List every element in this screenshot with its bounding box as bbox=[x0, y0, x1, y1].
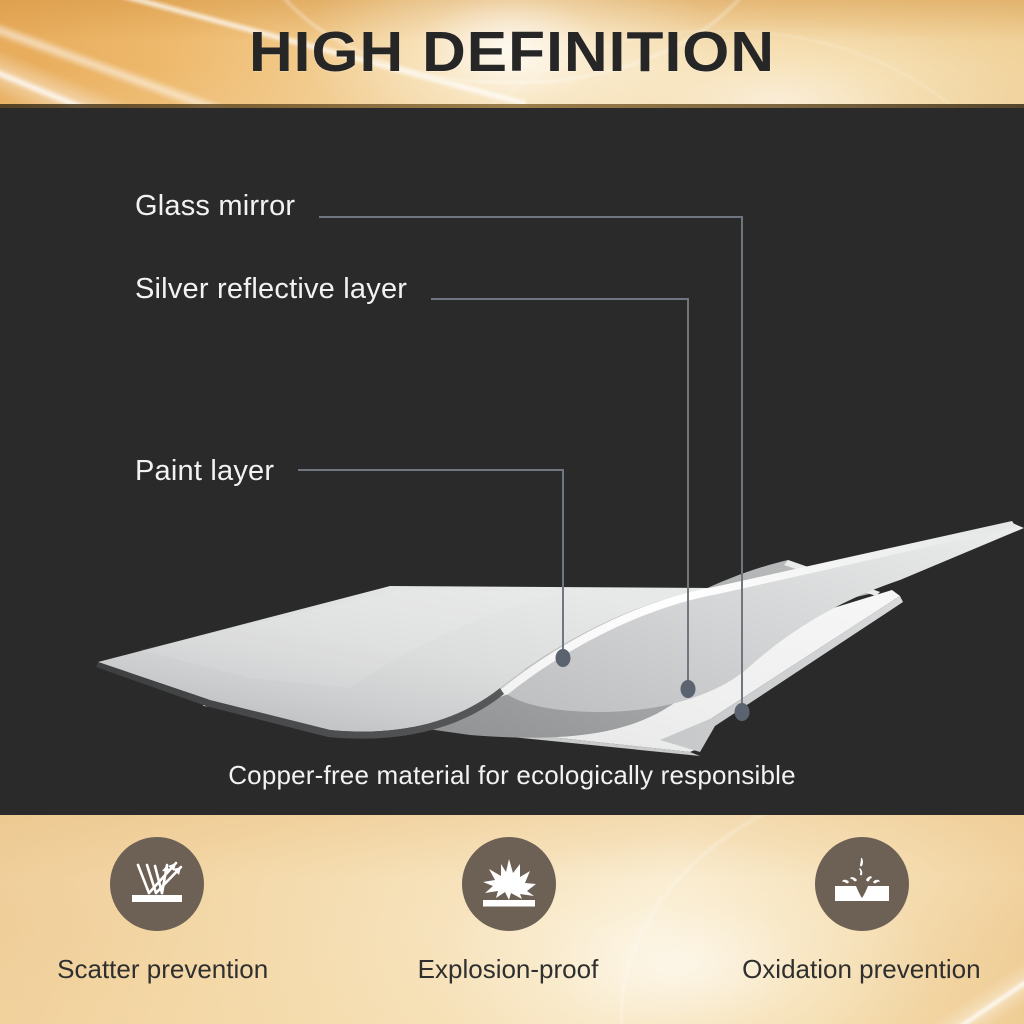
feature-icon-circle bbox=[462, 837, 556, 931]
feature-icon-circle bbox=[815, 837, 909, 931]
feature-scatter-prevention: Scatter prevention bbox=[0, 815, 341, 1024]
explosion-burst-icon bbox=[476, 855, 542, 913]
feature-label: Scatter prevention bbox=[0, 954, 333, 985]
infographic-canvas: HIGH DEFINITION bbox=[0, 0, 1024, 1024]
feature-oxidation-prevention: Oxidation prevention bbox=[683, 815, 1024, 1024]
page-title: HIGH DEFINITION bbox=[0, 0, 1024, 104]
layer-label-glass-mirror: Glass mirror bbox=[135, 190, 295, 223]
oxidation-impact-icon bbox=[829, 855, 895, 913]
layer-label-silver-reflective-layer: Silver reflective layer bbox=[135, 273, 407, 306]
feature-list: Scatter prevention Explosion-proof bbox=[0, 815, 1024, 1024]
layer-label-paint-layer: Paint layer bbox=[135, 455, 274, 488]
scatter-rays-icon bbox=[124, 855, 190, 913]
feature-icon-circle bbox=[110, 837, 204, 931]
feature-label: Explosion-proof bbox=[337, 954, 678, 985]
eco-caption: Copper-free material for ecologically re… bbox=[0, 760, 1024, 791]
feature-label: Oxidation prevention bbox=[691, 954, 1024, 985]
feature-explosion-proof: Explosion-proof bbox=[341, 815, 682, 1024]
